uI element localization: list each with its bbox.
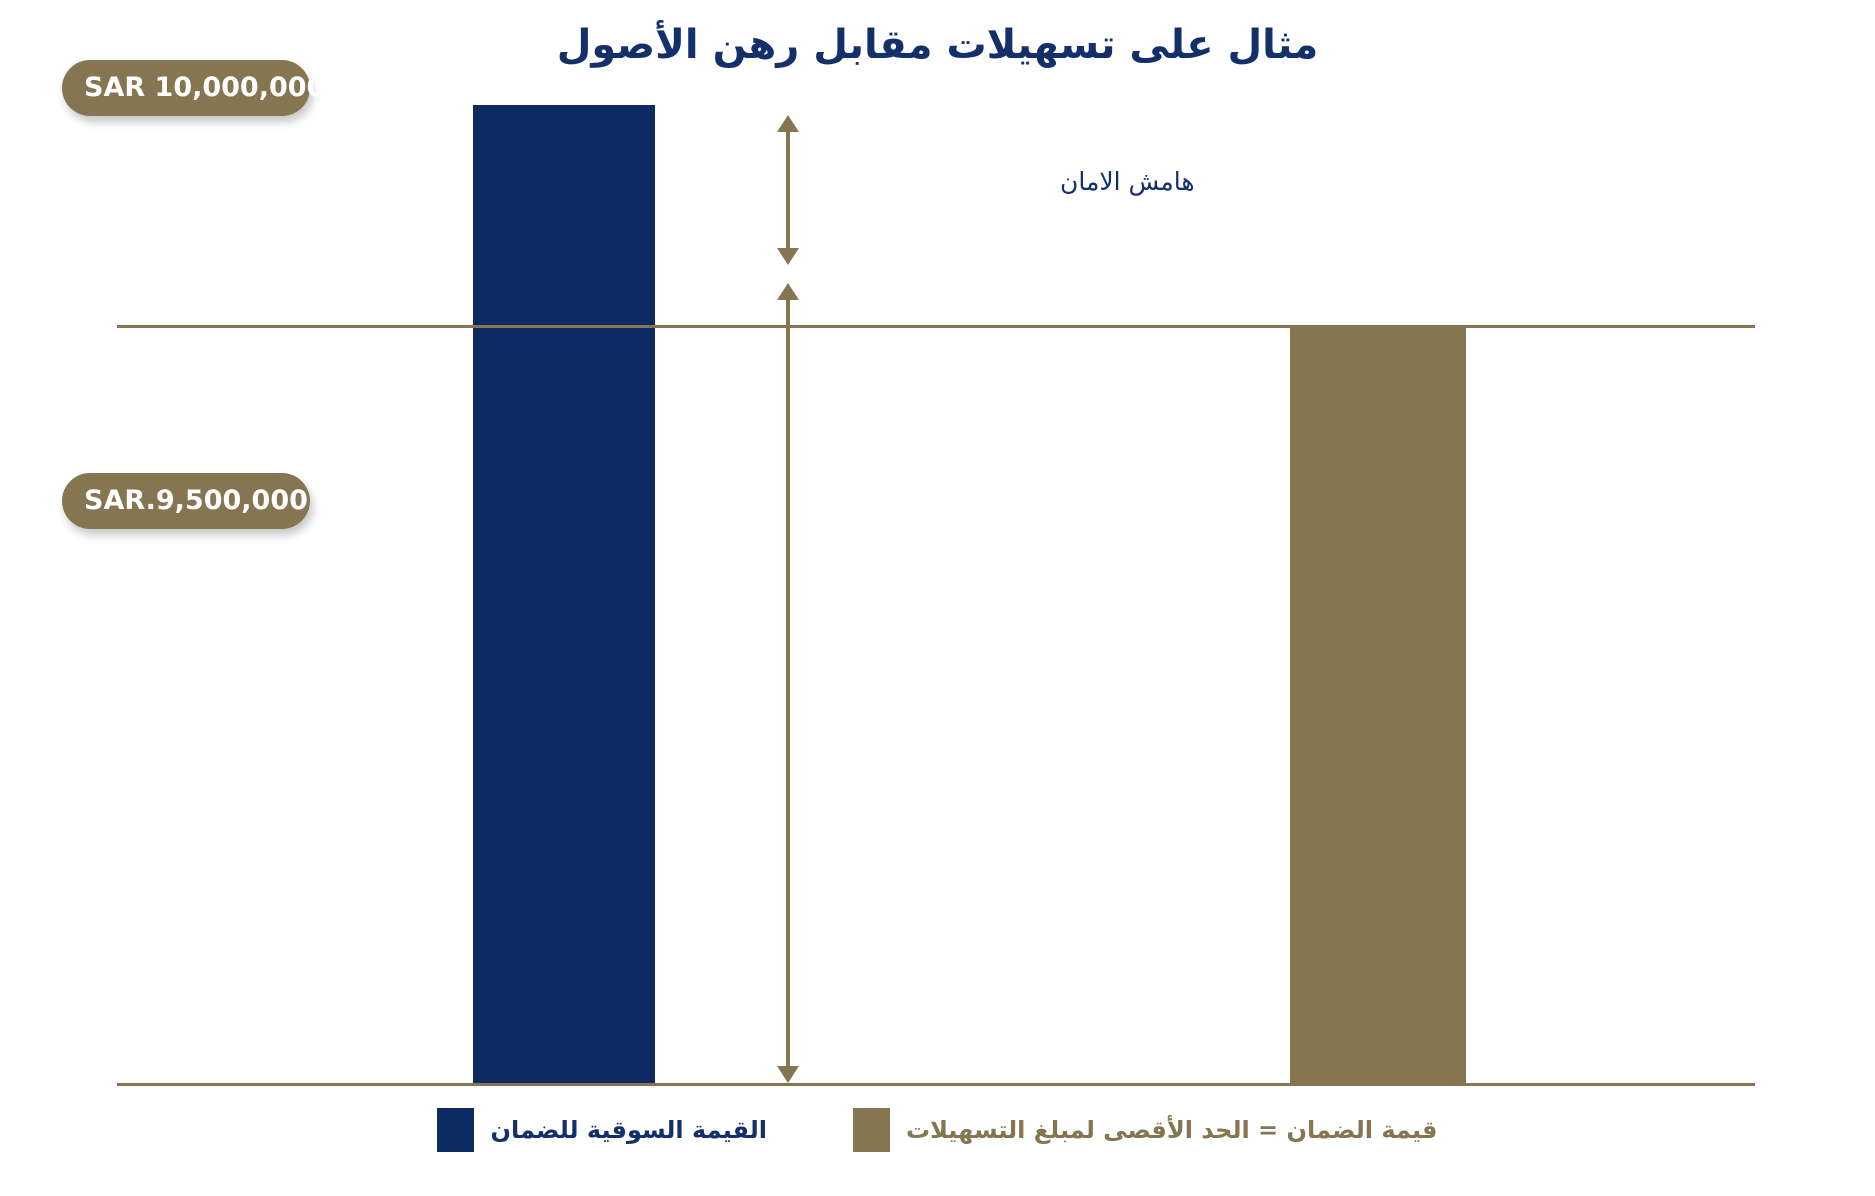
- arrow-head-down-icon: [777, 248, 799, 265]
- navy-swatch-icon: [437, 1108, 474, 1152]
- reference-line-facility-cap: [117, 325, 1755, 328]
- baseline-axis-line: [117, 1083, 1755, 1086]
- chart-canvas: مثال على تسهيلات مقابل رهن الأصول هامش ا…: [0, 0, 1875, 1196]
- value-pill-facility: SAR.9,500,000: [62, 473, 310, 529]
- arrow-head-down-icon: [777, 1066, 799, 1083]
- legend-label-collateral: القيمة السوقية للضمان: [490, 1116, 766, 1144]
- loan-to-value-label: نسبة التسهيلات إلى قيمة الضمان: 95%*: [1135, 0, 1165, 275]
- loan-to-value-arrow-icon: [775, 283, 801, 1083]
- legend-item-facility: قيمة الضمان = الحد الأقصى لمبلغ التسهيلا…: [853, 1108, 1438, 1152]
- legend: القيمة السوقية للضمان قيمة الضمان = الحد…: [0, 1108, 1875, 1152]
- safety-margin-label: هامش الامان: [1060, 167, 1195, 196]
- legend-item-collateral: القيمة السوقية للضمان: [437, 1108, 766, 1152]
- safety-margin-arrow-icon: [775, 115, 801, 265]
- arrow-shaft: [786, 125, 790, 255]
- bar-market-value-collateral: [473, 105, 655, 1085]
- legend-label-facility: قيمة الضمان = الحد الأقصى لمبلغ التسهيلا…: [906, 1116, 1438, 1144]
- arrow-shaft: [786, 293, 790, 1073]
- bar-maximum-facility-amount: [1290, 327, 1466, 1085]
- plot-area: هامش الامان نسبة التسهيلات إلى قيمة الضم…: [135, 105, 1755, 1090]
- value-pill-collateral: SAR 10,000,000: [62, 60, 310, 116]
- gold-swatch-icon: [853, 1108, 890, 1152]
